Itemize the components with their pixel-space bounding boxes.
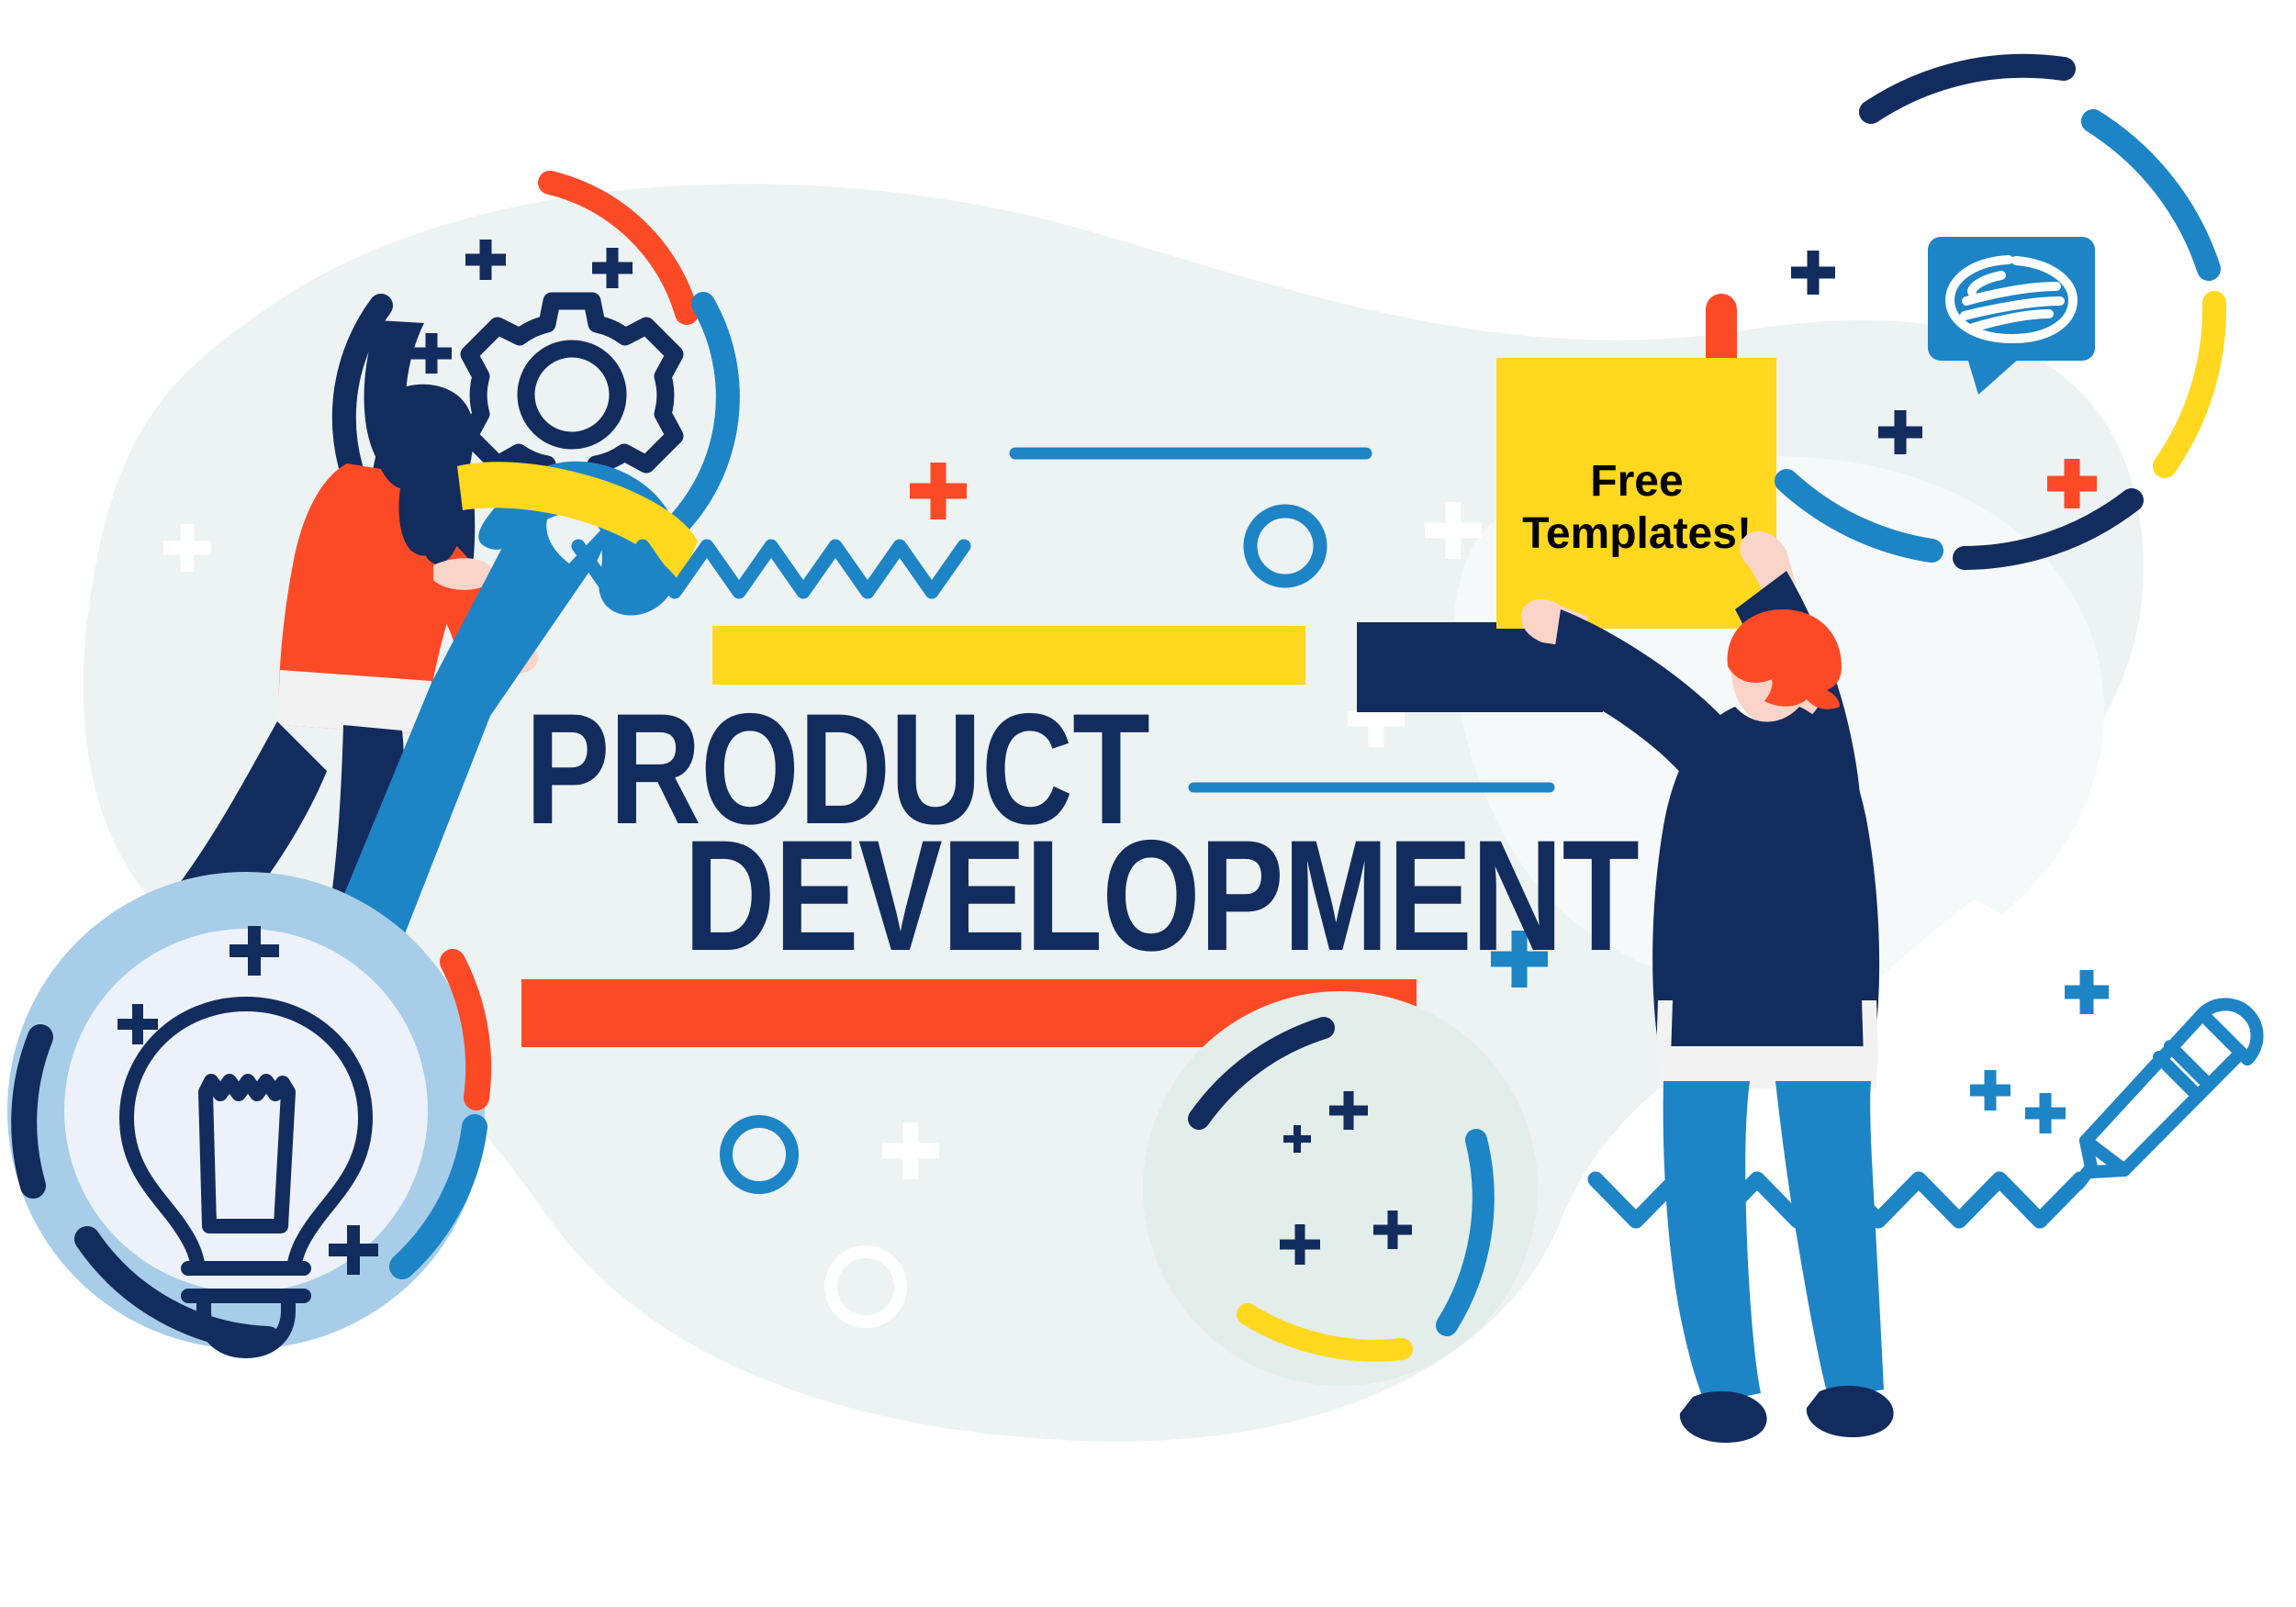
plus-navy-right-1: [1791, 251, 1835, 295]
free-templates-card[interactable]: Free Templates!: [1496, 358, 1776, 629]
lightbulb-badge: [7, 872, 485, 1351]
free-templates-label-line2: Templates!: [1522, 509, 1752, 558]
lightbulb-inner-disc: [64, 929, 428, 1292]
man-sweater: [1652, 707, 1879, 1055]
illustration-canvas: PRODUCT DEVELOPMENT Free: [0, 0, 2296, 1607]
yellow-bar: [712, 626, 1305, 685]
top-right-ring-blue-arc: [2093, 121, 2209, 269]
mint-disc-group: [1143, 991, 1538, 1386]
woman-sweater-band: [277, 670, 431, 734]
headline-line-2: DEVELOPMENT: [684, 808, 1639, 984]
top-right-ring-navy-arc-top: [1871, 66, 2064, 112]
free-templates-label-line1: Free: [1590, 457, 1683, 506]
top-right-ring-yellow-arc: [2165, 303, 2214, 466]
pencil-icon-eraser: [2202, 1004, 2257, 1059]
